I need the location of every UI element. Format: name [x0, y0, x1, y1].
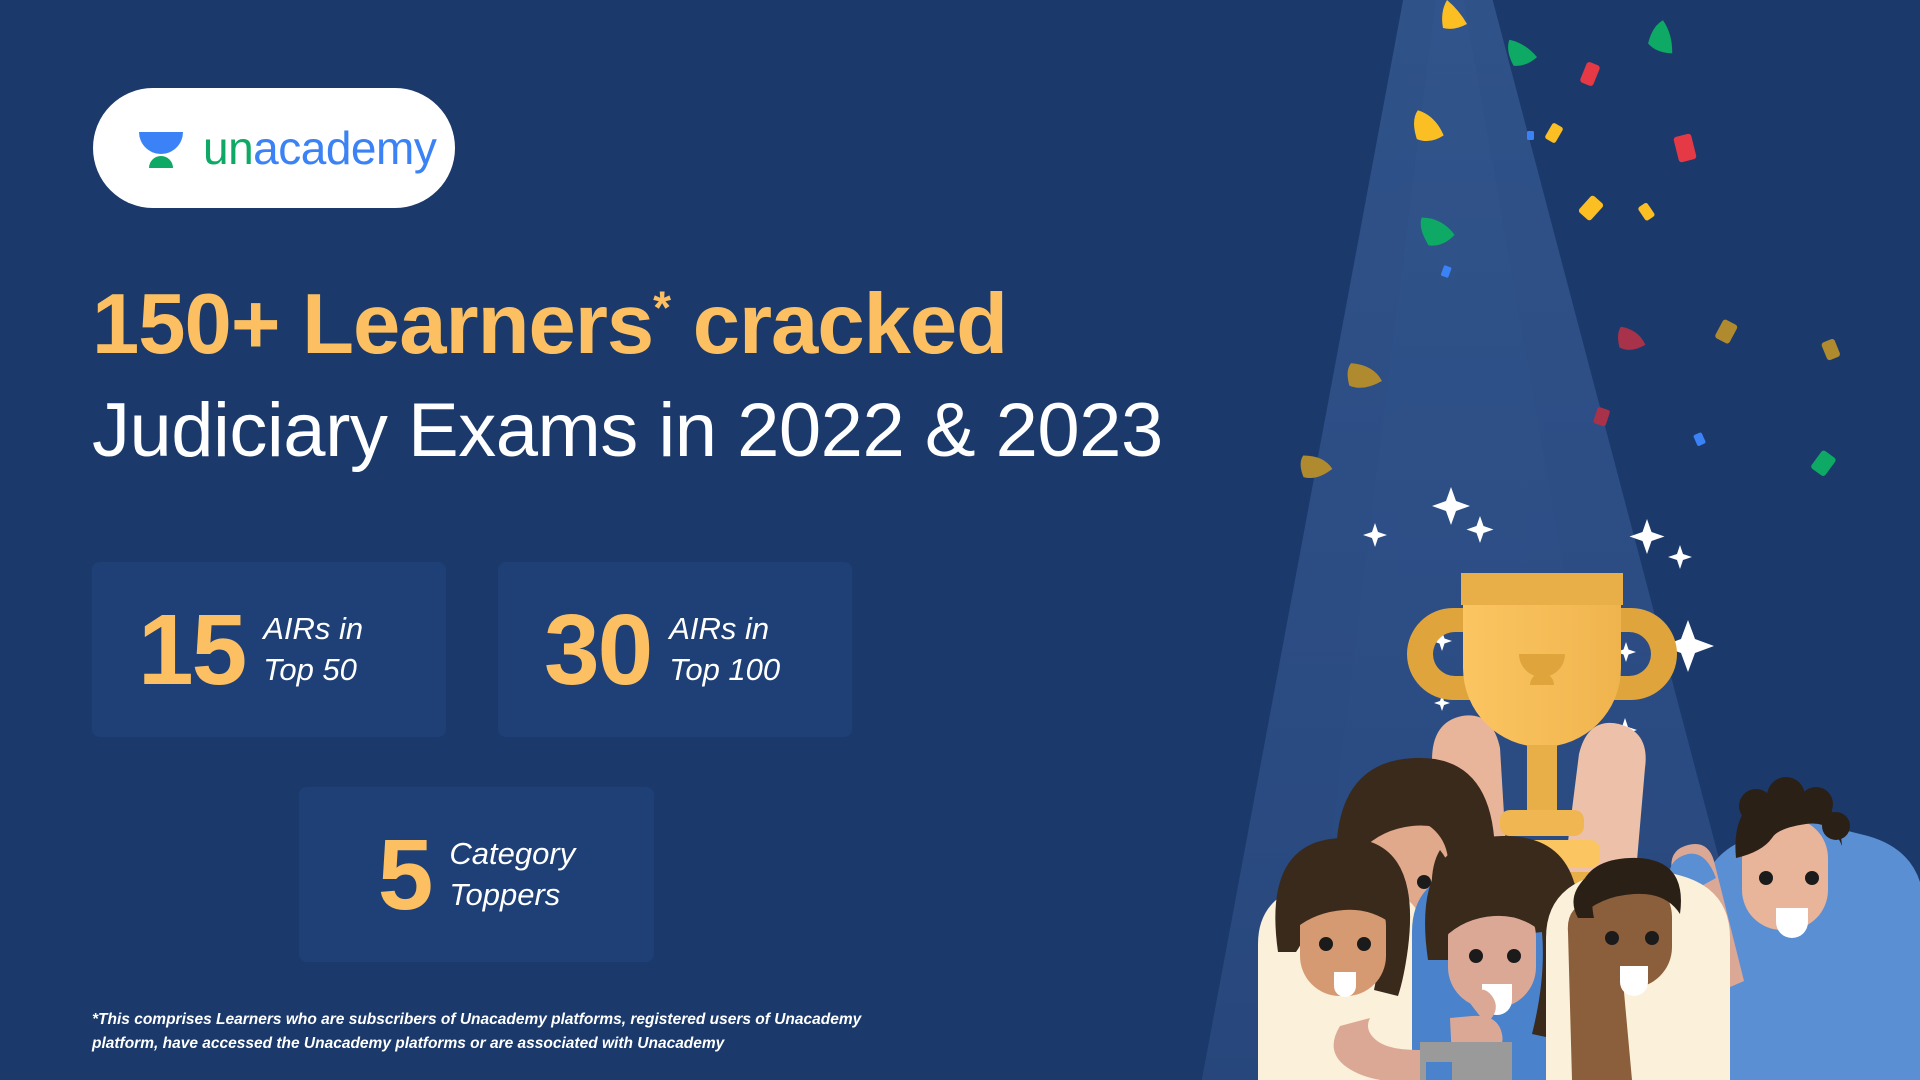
stats-block: 15 AIRs in Top 50 30 AIRs in Top 100 5 C… — [92, 562, 852, 962]
unacademy-logo[interactable]: unacademy — [93, 88, 455, 208]
logo-text-academy: academy — [253, 122, 436, 174]
headline-asterisk: * — [653, 282, 670, 334]
stat-label: AIRs in Top 50 — [263, 609, 363, 690]
headline-line-1: 150+ Learners* cracked — [92, 282, 1272, 367]
unacademy-bowl-icon — [135, 122, 187, 174]
stats-row-bottom: 5 Category Toppers — [92, 787, 852, 962]
stat-card-category-toppers[interactable]: 5 Category Toppers — [299, 787, 654, 962]
stat-card-air-top-100[interactable]: 30 AIRs in Top 100 — [498, 562, 852, 737]
stat-label-line-2: Top 50 — [263, 650, 363, 690]
stat-label-line-1: AIRs in — [669, 609, 780, 649]
stat-card-air-top-50[interactable]: 15 AIRs in Top 50 — [92, 562, 446, 737]
stat-label-line-2: Top 100 — [669, 650, 780, 690]
stat-number: 5 — [378, 830, 432, 920]
stat-label-line-1: Category — [449, 834, 575, 874]
unacademy-wordmark: unacademy — [203, 121, 436, 175]
stat-label: AIRs in Top 100 — [669, 609, 780, 690]
person-boy-cream-tee — [1546, 858, 1730, 1080]
headline-block: 150+ Learners* cracked Judiciary Exams i… — [92, 282, 1272, 469]
logo-text-un: un — [203, 122, 253, 174]
stat-number: 30 — [544, 605, 651, 695]
stat-label-line-2: Toppers — [449, 875, 575, 915]
stats-row-top: 15 AIRs in Top 50 30 AIRs in Top 100 — [92, 562, 852, 737]
headline-count-text: 150+ Learners — [92, 277, 653, 372]
disclaimer-footnote: *This comprises Learners who are subscri… — [92, 1008, 922, 1056]
stat-number: 15 — [138, 605, 245, 695]
stat-label: Category Toppers — [449, 834, 575, 915]
stat-label-line-1: AIRs in — [263, 609, 363, 649]
banner-stage: unacademy 150+ Learners* cracked Judicia… — [0, 0, 1920, 1080]
headline-line-2: Judiciary Exams in 2022 & 2023 — [92, 393, 1272, 469]
headline-verb-text: cracked — [670, 277, 1007, 372]
